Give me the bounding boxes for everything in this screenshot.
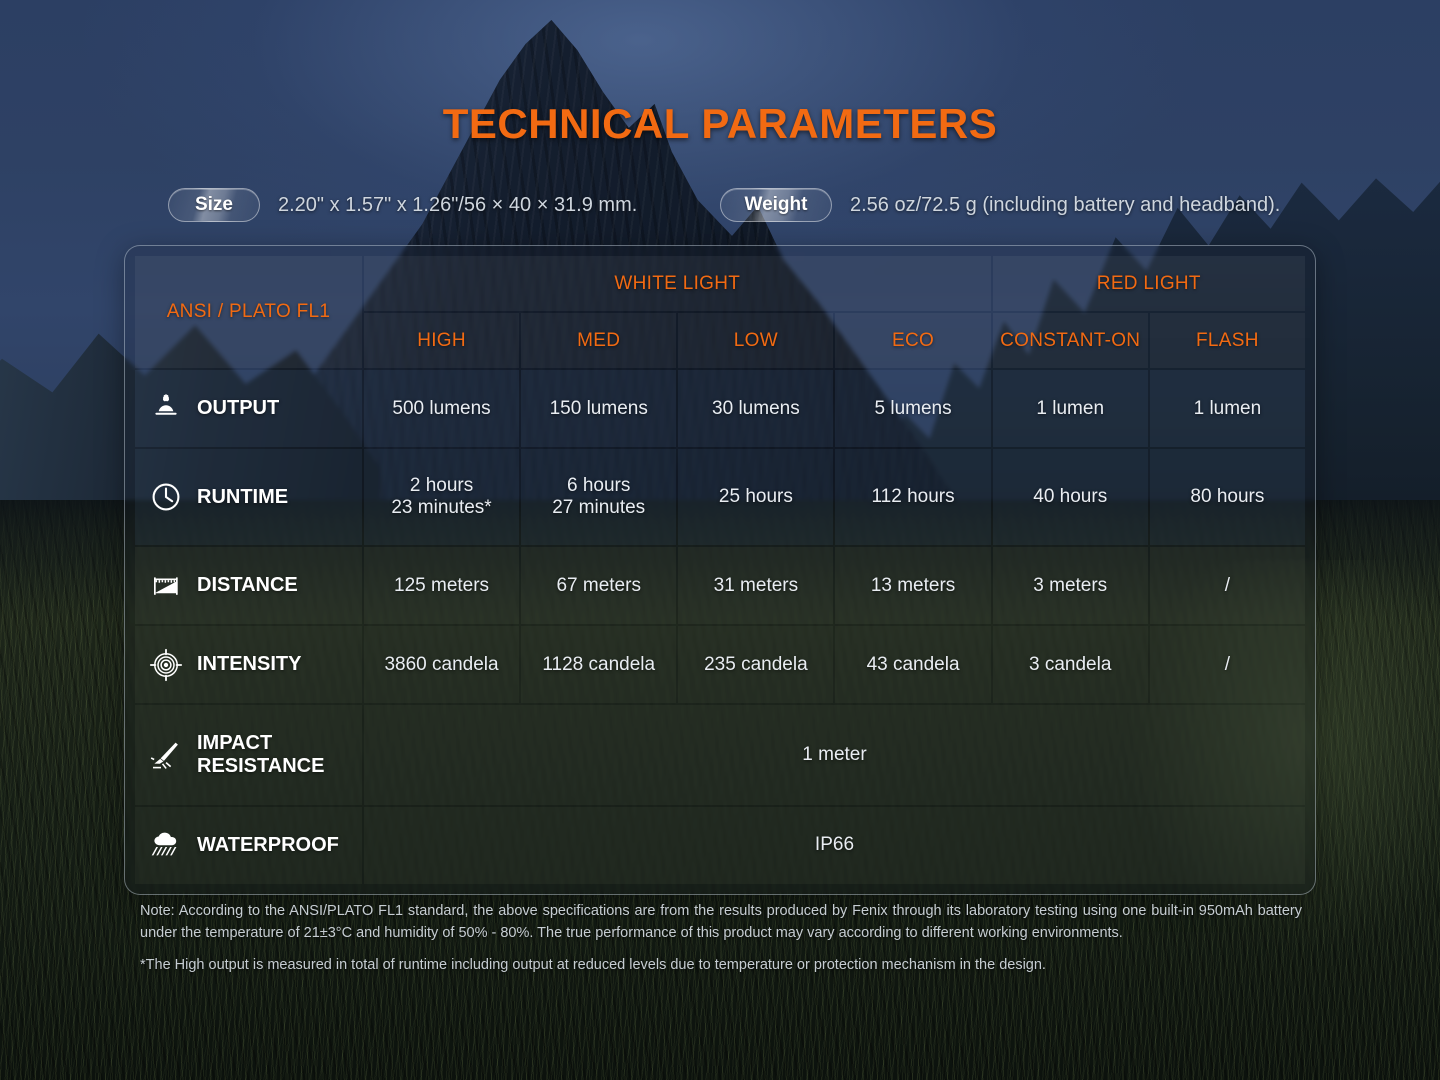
cell-intensity-flash: / [1150,626,1305,703]
cell-distance-flash: / [1150,547,1305,624]
cell-distance-eco: 13 meters [835,547,990,624]
row-label-impact-resistance: IMPACTRESISTANCE [135,705,362,804]
target-intensity-icon [149,648,183,682]
notes-block: Note: According to the ANSI/PLATO FL1 st… [140,900,1302,976]
beam-distance-icon [149,569,183,603]
cell-output-constant-on: 1 lumen [993,370,1148,447]
group-header-red-light: RED LIGHT [993,256,1305,311]
cell-runtime-low: 25 hours [678,449,833,545]
page-title: TECHNICAL PARAMETERS [0,100,1440,148]
cell-output-med: 150 lumens [521,370,676,447]
cell-output-high: 500 lumens [364,370,519,447]
cell-intensity-high: 3860 candela [364,626,519,703]
cell-distance-med: 67 meters [521,547,676,624]
row-label-output: OUTPUT [135,370,362,447]
column-header-low: LOW [678,313,833,368]
column-header-high: HIGH [364,313,519,368]
size-value: 2.20" x 1.57" x 1.26"/56 × 40 × 31.9 mm. [278,194,637,217]
size-spec: Size 2.20" x 1.57" x 1.26"/56 × 40 × 31.… [168,188,637,222]
cell-intensity-low: 235 candela [678,626,833,703]
table-group-header-row: ANSI / PLATO FL1 WHITE LIGHT RED LIGHT [135,256,1305,311]
spec-table: ANSI / PLATO FL1 WHITE LIGHT RED LIGHT H… [133,254,1307,886]
row-label-text: RUNTIME [197,486,288,509]
cell-distance-constant-on: 3 meters [993,547,1148,624]
cell-runtime-med: 6 hours27 minutes [521,449,676,545]
cell-distance-high: 125 meters [364,547,519,624]
row-label-distance: DISTANCE [135,547,362,624]
row-label-waterproof: WATERPROOF [135,807,362,884]
weight-label-pill: Weight [720,188,832,222]
cell-distance-low: 31 meters [678,547,833,624]
row-label-text: INTENSITY [197,653,301,676]
rain-cloud-icon [149,828,183,862]
row-label-text: IMPACTRESISTANCE [197,732,324,778]
table-row: RUNTIME 2 hours23 minutes* 6 hours27 min… [135,449,1305,545]
table-row: WATERPROOF IP66 [135,807,1305,884]
row-label-text: WATERPROOF [197,834,339,857]
page-content: TECHNICAL PARAMETERS Size 2.20" x 1.57" … [0,0,1440,1080]
impact-resistance-icon [149,738,183,772]
group-header-white-light: WHITE LIGHT [364,256,991,311]
sunburst-icon [149,392,183,426]
cell-runtime-flash: 80 hours [1150,449,1305,545]
row-label-text: OUTPUT [197,397,279,420]
cell-runtime-high: 2 hours23 minutes* [364,449,519,545]
column-header-eco: ECO [835,313,990,368]
ansi-plato-label: ANSI / PLATO FL1 [135,256,362,368]
row-label-text: DISTANCE [197,574,298,597]
table-row: INTENSITY 3860 candela 1128 candela 235 … [135,626,1305,703]
footnote-paragraph: *The High output is measured in total of… [140,954,1302,976]
table-row: IMPACTRESISTANCE 1 meter [135,705,1305,804]
spec-table-panel: ANSI / PLATO FL1 WHITE LIGHT RED LIGHT H… [124,245,1316,895]
cell-intensity-eco: 43 candela [835,626,990,703]
spec-strip: Size 2.20" x 1.57" x 1.26"/56 × 40 × 31.… [168,188,1308,224]
note-paragraph: Note: According to the ANSI/PLATO FL1 st… [140,900,1302,944]
cell-intensity-med: 1128 candela [521,626,676,703]
cell-impact-resistance-value: 1 meter [364,705,1305,804]
table-row: OUTPUT 500 lumens 150 lumens 30 lumens 5… [135,370,1305,447]
weight-value: 2.56 oz/72.5 g (including battery and he… [850,194,1280,217]
clock-icon [149,480,183,514]
cell-output-eco: 5 lumens [835,370,990,447]
cell-waterproof-value: IP66 [364,807,1305,884]
row-label-runtime: RUNTIME [135,449,362,545]
cell-runtime-constant-on: 40 hours [993,449,1148,545]
table-row: DISTANCE 125 meters 67 meters 31 meters … [135,547,1305,624]
size-label-pill: Size [168,188,260,222]
row-label-intensity: INTENSITY [135,626,362,703]
column-header-flash: FLASH [1150,313,1305,368]
cell-runtime-eco: 112 hours [835,449,990,545]
weight-spec: Weight 2.56 oz/72.5 g (including battery… [720,188,1280,222]
column-header-med: MED [521,313,676,368]
cell-output-low: 30 lumens [678,370,833,447]
cell-intensity-constant-on: 3 candela [993,626,1148,703]
cell-output-flash: 1 lumen [1150,370,1305,447]
column-header-constant-on: CONSTANT-ON [993,313,1148,368]
